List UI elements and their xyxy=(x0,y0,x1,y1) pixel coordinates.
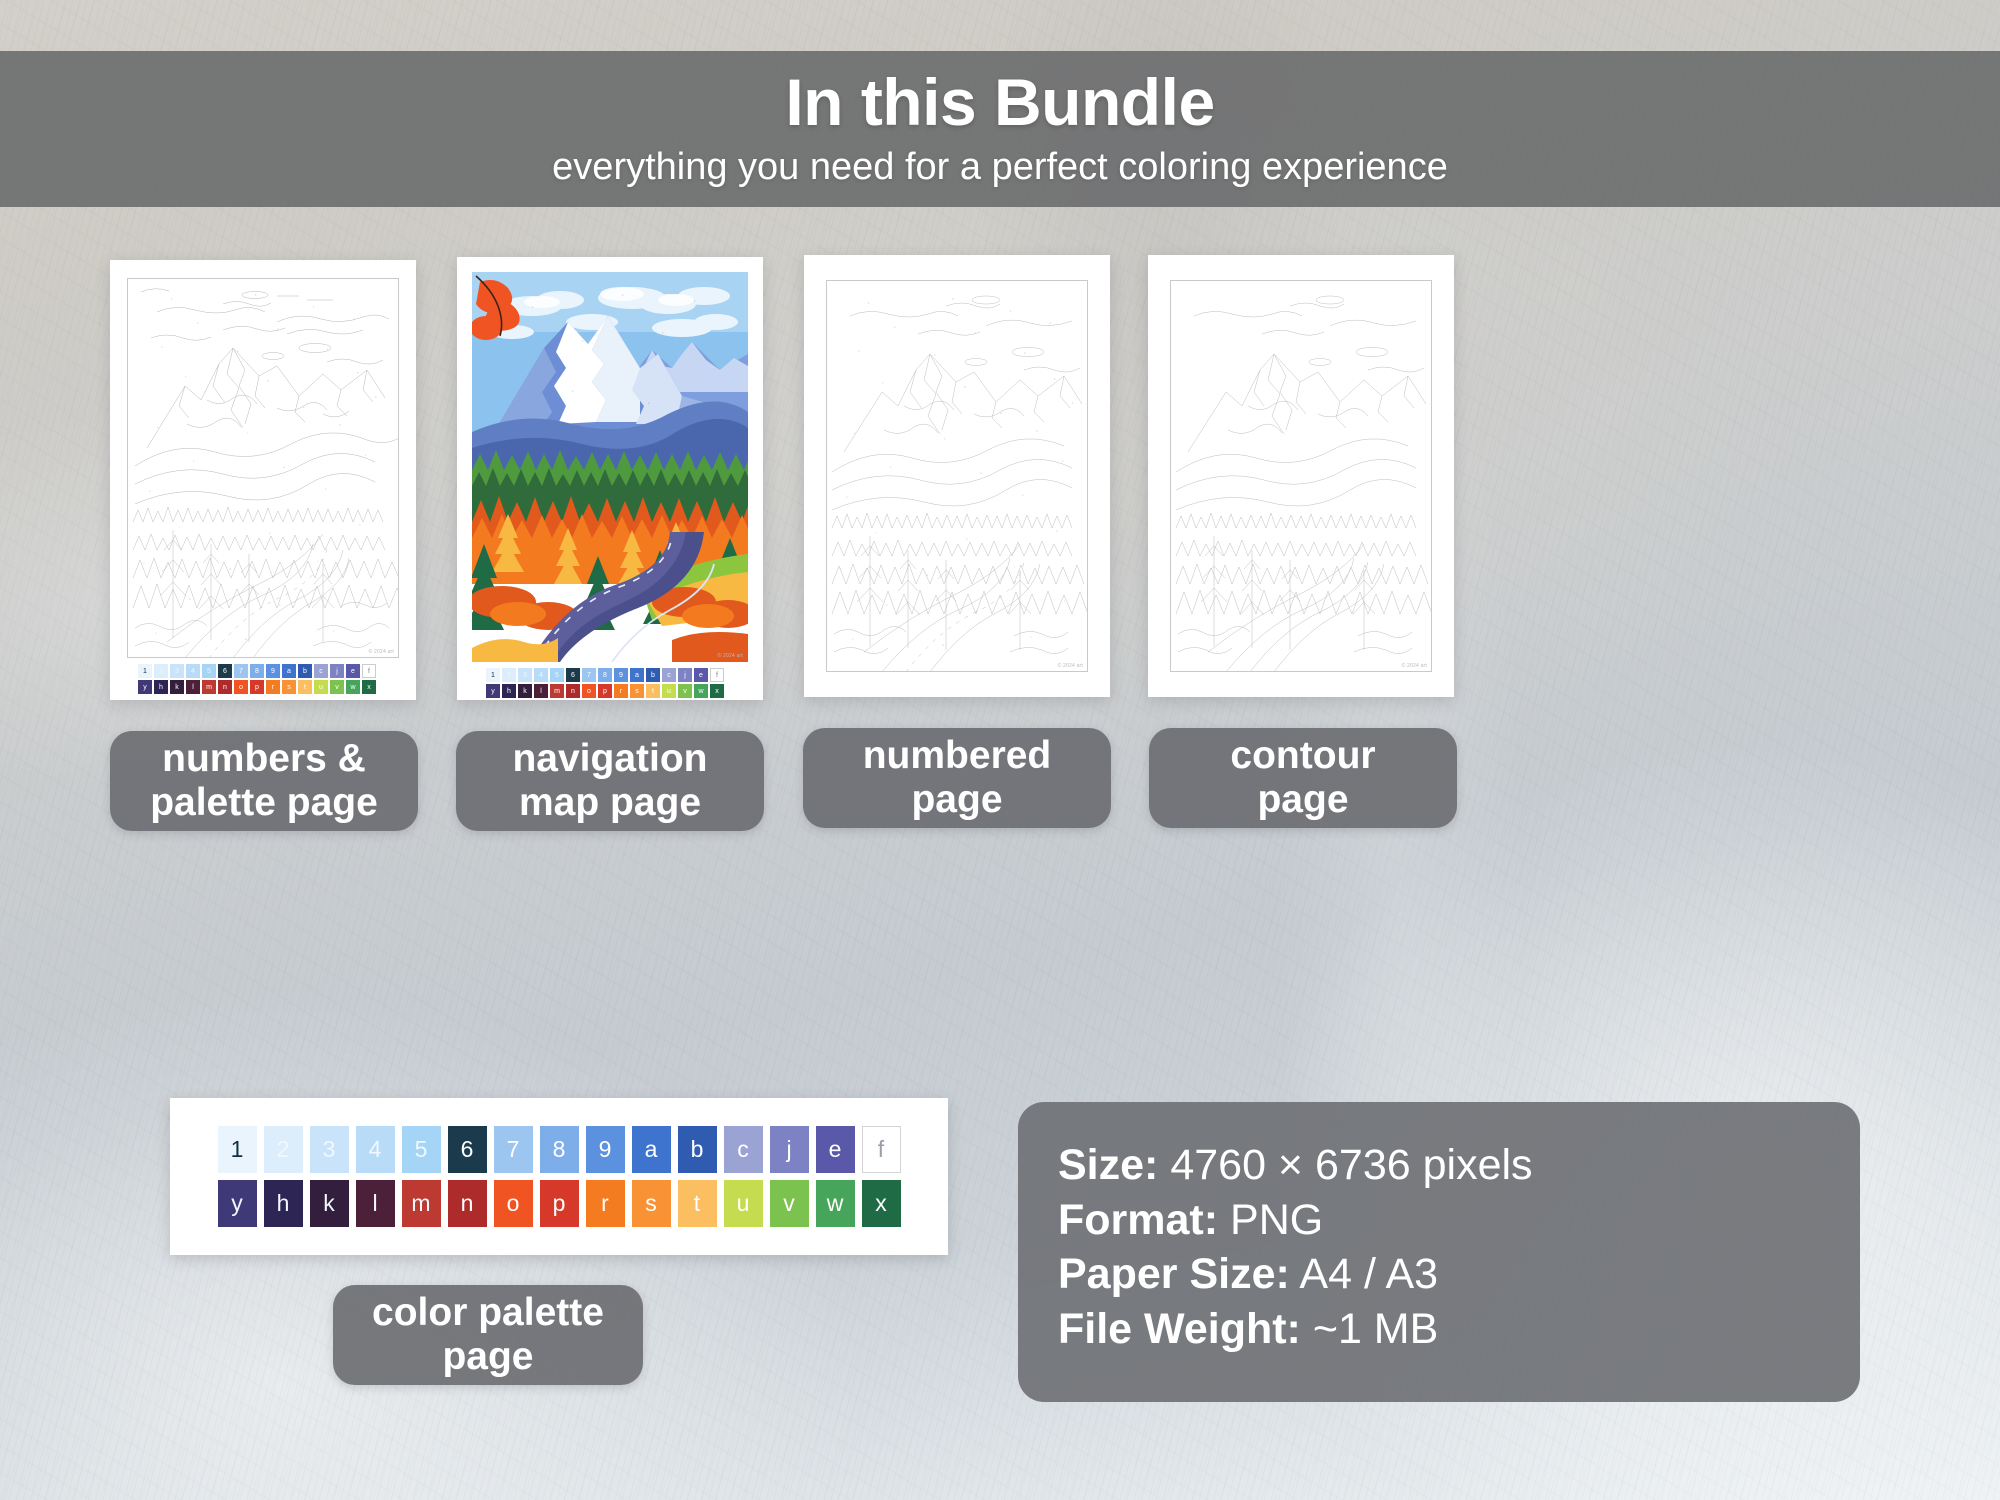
mini-palette-swatch-2: 2 xyxy=(502,668,516,682)
palette-swatch-w[interactable]: w xyxy=(816,1180,855,1227)
mini-palette-swatch-f: f xyxy=(710,668,724,682)
palette-swatch-v[interactable]: v xyxy=(770,1180,809,1227)
palette-swatch-h[interactable]: h xyxy=(264,1180,303,1227)
palette-swatch-9[interactable]: 9 xyxy=(586,1126,625,1173)
palette-swatch-r[interactable]: r xyxy=(586,1180,625,1227)
pill-text: color palette page xyxy=(372,1291,604,1378)
sheet-numbered: 161 221 342 785 9ab c79 xwv uts rpo nml … xyxy=(826,280,1088,672)
palette-row-2: yhklmnoprstuvwx xyxy=(218,1180,901,1227)
palette-swatch-b[interactable]: b xyxy=(678,1126,717,1173)
label-color-palette-page[interactable]: color palette page xyxy=(333,1285,643,1385)
page-title: In this Bundle xyxy=(785,69,1214,135)
palette-row-1: 123456789abcjef xyxy=(218,1126,901,1173)
mini-palette-swatch-m: m xyxy=(202,680,216,694)
palette-swatch-j[interactable]: j xyxy=(770,1126,809,1173)
mini-palette-swatch-b: b xyxy=(298,664,312,678)
mini-palette-swatch-k: k xyxy=(170,680,184,694)
mini-palette-swatch-x: x xyxy=(362,680,376,694)
mini-palette-swatch-a: a xyxy=(282,664,296,678)
mini-palette-swatch-9: 9 xyxy=(614,668,628,682)
mini-palette-swatch-5: 5 xyxy=(202,664,216,678)
info-key: Paper Size: xyxy=(1058,1250,1290,1298)
mini-palette-swatch-v: v xyxy=(330,680,344,694)
mini-palette-swatch-u: u xyxy=(662,684,676,698)
mini-palette-swatch-o: o xyxy=(582,684,596,698)
pill-text: contour page xyxy=(1230,734,1375,821)
info-row-paper-size: Paper Size: A4 / A3 xyxy=(1058,1247,1860,1302)
mini-palette-swatch-3: 3 xyxy=(170,664,184,678)
mini-palette-swatch-t: t xyxy=(298,680,312,694)
palette-swatch-l[interactable]: l xyxy=(356,1180,395,1227)
sheet-navigation-map: 162 34 9a © 2024 art xyxy=(472,272,748,662)
mini-palette-swatch-2: 2 xyxy=(154,664,168,678)
page-subtitle: everything you need for a perfect colori… xyxy=(552,147,1448,189)
label-numbered-page[interactable]: numbered page xyxy=(803,728,1111,828)
mini-palette-swatch-f: f xyxy=(362,664,376,678)
mini-palette-swatch-6: 6 xyxy=(218,664,232,678)
palette-swatch-s[interactable]: s xyxy=(632,1180,671,1227)
palette-swatch-a[interactable]: a xyxy=(632,1126,671,1173)
mini-palette-row-2: yhklmnoprstuvwx xyxy=(138,680,376,694)
info-row-file-weight: File Weight: ~1 MB xyxy=(1058,1302,1860,1357)
palette-swatch-x[interactable]: x xyxy=(862,1180,901,1227)
label-numbers-palette-page[interactable]: numbers & palette page xyxy=(110,731,418,831)
mini-palette-swatch-1: 1 xyxy=(486,668,500,682)
mini-palette-swatch-8: 8 xyxy=(250,664,264,678)
mini-palette-swatch-v: v xyxy=(678,684,692,698)
mini-palette-swatch-4: 4 xyxy=(534,668,548,682)
color-palette-card: 123456789abcjef yhklmnoprstuvwx xyxy=(170,1098,948,1255)
palette-swatch-1[interactable]: 1 xyxy=(218,1126,257,1173)
mini-palette-swatch-h: h xyxy=(154,680,168,694)
thumbnail-card-contour[interactable]: © 2024 art xyxy=(1148,255,1454,697)
palette-swatch-n[interactable]: n xyxy=(448,1180,487,1227)
mini-palette-swatch-l: l xyxy=(534,684,548,698)
info-value: PNG xyxy=(1230,1196,1323,1244)
palette-swatch-t[interactable]: t xyxy=(678,1180,717,1227)
info-value: 4760 × 6736 pixels xyxy=(1170,1141,1532,1189)
palette-swatch-4[interactable]: 4 xyxy=(356,1126,395,1173)
mini-palette-swatch-n: n xyxy=(218,680,232,694)
colored-mountain-road-illustration: 162 34 9a xyxy=(472,272,748,662)
palette-swatch-u[interactable]: u xyxy=(724,1180,763,1227)
info-row-size: Size: 4760 × 6736 pixels xyxy=(1058,1138,1860,1193)
mini-palette-swatch-w: w xyxy=(346,680,360,694)
mini-palette-swatch-b: b xyxy=(646,668,660,682)
mini-palette-swatch-1: 1 xyxy=(138,664,152,678)
info-row-format: Format: PNG xyxy=(1058,1193,1860,1248)
mini-palette-strip-2: 123456789abcjef yhklmnoprstuvwx xyxy=(486,668,724,698)
palette-swatch-6[interactable]: 6 xyxy=(448,1126,487,1173)
mini-palette-swatch-t: t xyxy=(646,684,660,698)
thumbnail-card-navigation-map[interactable]: 162 34 9a © 2024 art 123456789abcjef yhk… xyxy=(457,257,763,700)
watermark: © 2024 art xyxy=(1058,663,1083,669)
mini-palette-swatch-s: s xyxy=(282,680,296,694)
sheet-frame xyxy=(1170,280,1432,672)
mini-palette-swatch-o: o xyxy=(234,680,248,694)
mini-palette-swatch-l: l xyxy=(186,680,200,694)
mini-palette-swatch-y: y xyxy=(138,680,152,694)
mini-palette-swatch-k: k xyxy=(518,684,532,698)
mini-palette-swatch-3: 3 xyxy=(518,668,532,682)
mini-palette-swatch-9: 9 xyxy=(266,664,280,678)
palette-swatch-5[interactable]: 5 xyxy=(402,1126,441,1173)
palette-swatch-p[interactable]: p xyxy=(540,1180,579,1227)
palette-swatch-2[interactable]: 2 xyxy=(264,1126,303,1173)
mini-palette-swatch-4: 4 xyxy=(186,664,200,678)
palette-swatch-m[interactable]: m xyxy=(402,1180,441,1227)
mini-palette-swatch-y: y xyxy=(486,684,500,698)
mini-palette-swatch-r: r xyxy=(266,680,280,694)
sheet-frame xyxy=(127,278,399,658)
mini-palette-swatch-5: 5 xyxy=(550,668,564,682)
label-contour-page[interactable]: contour page xyxy=(1149,728,1457,828)
palette-swatch-c[interactable]: c xyxy=(724,1126,763,1173)
info-key: Size: xyxy=(1058,1141,1158,1189)
mini-palette-swatch-w: w xyxy=(694,684,708,698)
palette-swatch-8[interactable]: 8 xyxy=(540,1126,579,1173)
file-info-card: Size: 4760 × 6736 pixels Format: PNG Pap… xyxy=(1018,1102,1860,1402)
mini-palette-swatch-r: r xyxy=(614,684,628,698)
mini-palette-swatch-u: u xyxy=(314,680,328,694)
palette-swatch-e[interactable]: e xyxy=(816,1126,855,1173)
mini-palette-swatch-j: j xyxy=(330,664,344,678)
mini-palette-swatch-7: 7 xyxy=(234,664,248,678)
mini-palette-swatch-p: p xyxy=(598,684,612,698)
mini-palette-swatch-c: c xyxy=(662,668,676,682)
info-value: A4 / A3 xyxy=(1299,1250,1438,1298)
palette-swatch-3[interactable]: 3 xyxy=(310,1126,349,1173)
watermark: © 2024 art xyxy=(369,649,394,655)
watermark: © 2024 art xyxy=(718,653,743,659)
info-key: File Weight: xyxy=(1058,1305,1301,1353)
mini-palette-swatch-6: 6 xyxy=(566,668,580,682)
mini-palette-strip-1: 123456789abcjef yhklmnoprstuvwx xyxy=(138,664,376,694)
sheet-contour: © 2024 art xyxy=(1170,280,1432,672)
mini-palette-row-1: 123456789abcjef xyxy=(486,668,724,682)
mini-palette-swatch-e: e xyxy=(694,668,708,682)
label-navigation-map-page[interactable]: navigation map page xyxy=(456,731,764,831)
watermark: © 2024 art xyxy=(1402,663,1427,669)
mini-palette-swatch-e: e xyxy=(346,664,360,678)
mini-palette-swatch-n: n xyxy=(566,684,580,698)
mini-palette-swatch-s: s xyxy=(630,684,644,698)
palette-swatch-o[interactable]: o xyxy=(494,1180,533,1227)
mini-palette-row-1: 123456789abcjef xyxy=(138,664,376,678)
mini-palette-swatch-8: 8 xyxy=(598,668,612,682)
palette-swatch-f[interactable]: f xyxy=(862,1126,901,1173)
sheet-frame xyxy=(826,280,1088,672)
mini-palette-swatch-7: 7 xyxy=(582,668,596,682)
mini-palette-swatch-h: h xyxy=(502,684,516,698)
thumbnail-card-numbers-palette[interactable]: 161 221 342 785 9ab c79 xwv uts rpo nml … xyxy=(110,260,416,700)
mini-palette-swatch-c: c xyxy=(314,664,328,678)
mini-palette-row-2: yhklmnoprstuvwx xyxy=(486,684,724,698)
info-key: Format: xyxy=(1058,1196,1218,1244)
sheet-numbers-palette: 161 221 342 785 9ab c79 xwv uts rpo nml … xyxy=(127,278,399,658)
pill-text: navigation map page xyxy=(512,737,707,824)
palette-swatch-7[interactable]: 7 xyxy=(494,1126,533,1173)
info-value: ~1 MB xyxy=(1313,1305,1438,1353)
pill-text: numbers & palette page xyxy=(150,737,378,824)
palette-swatch-k[interactable]: k xyxy=(310,1180,349,1227)
palette-swatch-y[interactable]: y xyxy=(218,1180,257,1227)
thumbnail-card-numbered[interactable]: 161 221 342 785 9ab c79 xwv uts rpo nml … xyxy=(804,255,1110,697)
mini-palette-swatch-p: p xyxy=(250,680,264,694)
mini-palette-swatch-m: m xyxy=(550,684,564,698)
mini-palette-swatch-a: a xyxy=(630,668,644,682)
mini-palette-swatch-j: j xyxy=(678,668,692,682)
header-banner: In this Bundle everything you need for a… xyxy=(0,51,2000,207)
mini-palette-swatch-x: x xyxy=(710,684,724,698)
pill-text: numbered page xyxy=(863,734,1052,821)
